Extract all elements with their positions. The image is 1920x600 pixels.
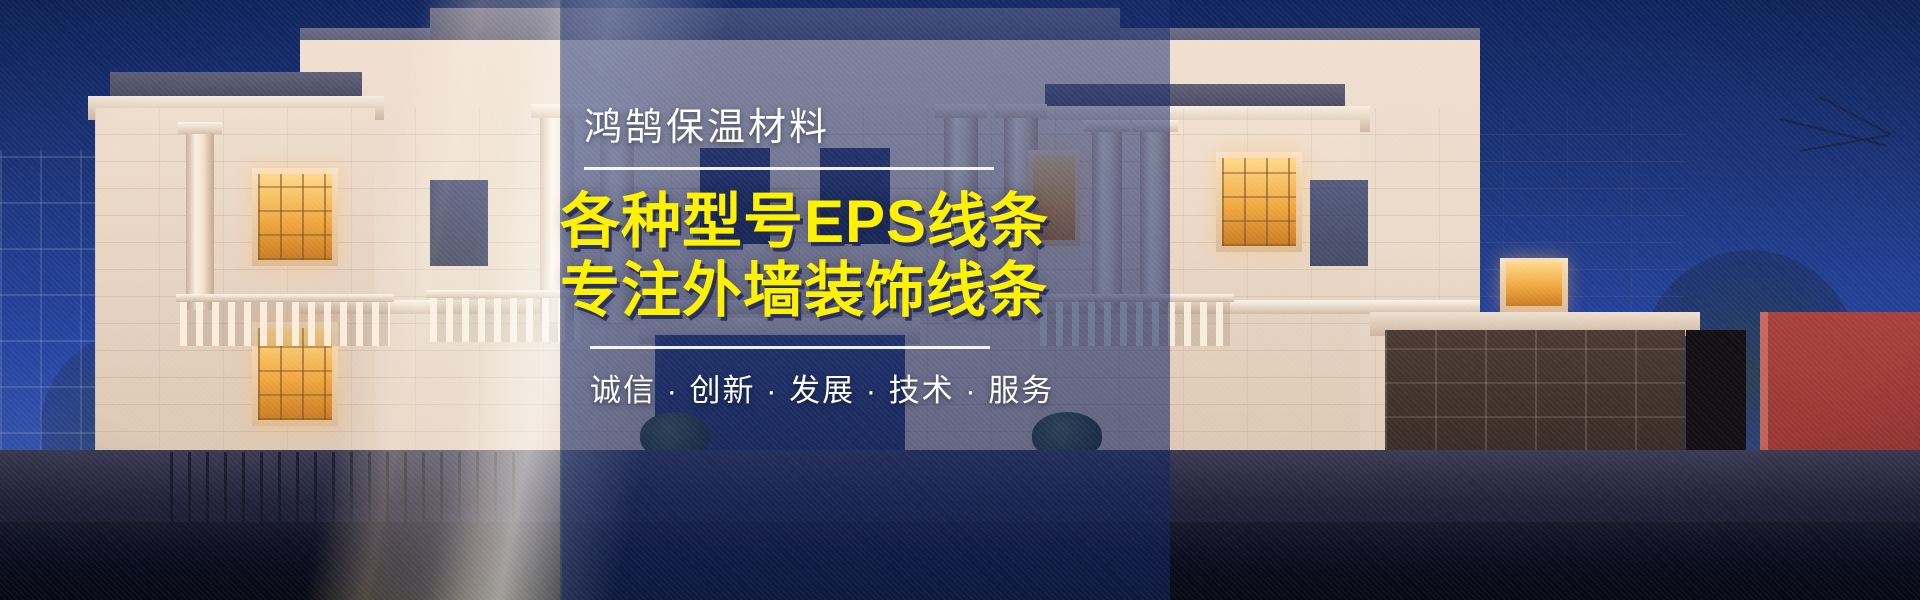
banner-content: 鸿鹄保温材料 各种型号EPS线条 专注外墙装饰线条 诚信 · 创新 · 发展 ·…	[560, 96, 1180, 410]
divider-bottom	[590, 346, 990, 349]
headline-line-1: 各种型号EPS线条	[560, 188, 1180, 255]
headline-line-2: 专注外墙装饰线条	[560, 257, 1180, 324]
hero-banner: 鸿鹄保温材料 各种型号EPS线条 专注外墙装饰线条 诚信 · 创新 · 发展 ·…	[0, 0, 1920, 600]
brand-name: 鸿鹄保温材料	[584, 96, 1180, 151]
tagline: 诚信 · 创新 · 发展 · 技术 · 服务	[590, 365, 1180, 410]
divider-top	[584, 167, 994, 170]
